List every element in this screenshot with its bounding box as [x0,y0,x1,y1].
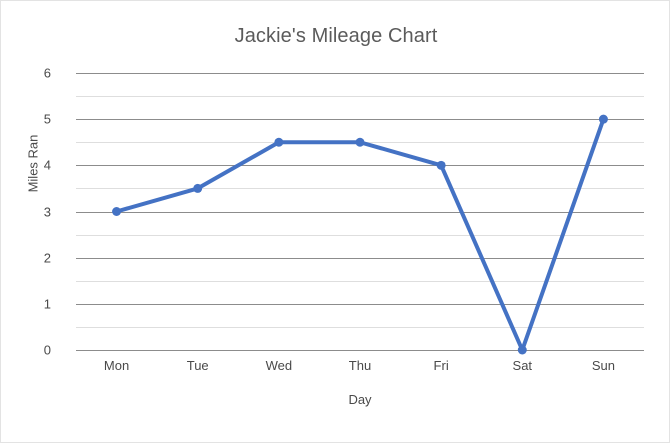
x-axis-tick-label: Tue [187,358,209,373]
series-polyline [117,119,604,350]
y-axis-tick-label: 6 [1,66,63,81]
gridline-major [76,350,644,351]
data-point-marker [193,184,202,193]
x-axis-tick-label: Mon [104,358,129,373]
data-point-marker [437,161,446,170]
y-axis-tick-label: 1 [1,296,63,311]
chart-container: Jackie's Mileage Chart 0123456 Miles Ran… [0,0,670,443]
data-point-marker [518,346,527,355]
data-point-marker [274,138,283,147]
x-axis-title: Day [76,392,644,407]
data-point-marker [356,138,365,147]
x-axis-tick-label: Sun [592,358,615,373]
data-point-marker [112,207,121,216]
x-axis-tick-label: Wed [266,358,293,373]
x-axis-tick-label: Thu [349,358,371,373]
chart-title: Jackie's Mileage Chart [1,25,670,48]
x-axis-tick-label: Fri [434,358,449,373]
data-series-line [76,73,644,350]
data-point-marker [599,115,608,124]
y-axis-tick-label: 0 [1,343,63,358]
x-axis-tick-label: Sat [513,358,533,373]
y-axis-tick-label: 2 [1,250,63,265]
y-axis-title: Miles Ran [26,104,41,224]
x-axis-tick-labels: MonTueWedThuFriSatSun [76,358,644,380]
